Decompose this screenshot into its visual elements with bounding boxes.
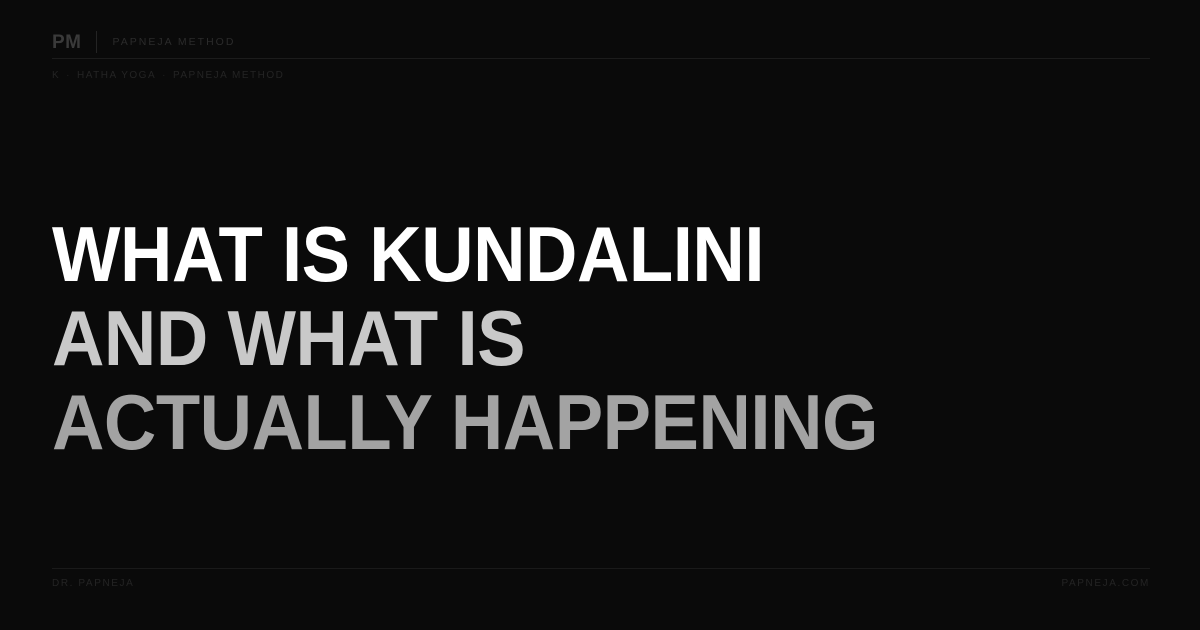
brand-name-label: PAPNEJA METHOD xyxy=(97,36,236,48)
headline-line-3: ACTUALLY HAPPENING xyxy=(52,380,1075,464)
title-slide: PM PAPNEJA METHOD K · HATHA YOGA · PAPNE… xyxy=(0,0,1200,630)
footer-author: DR. PAPNEJA xyxy=(52,578,134,589)
footer-website: PAPNEJA.COM xyxy=(1061,578,1150,589)
breadcrumb-separator: · xyxy=(156,70,173,81)
brand-logo-mark: PM xyxy=(52,33,96,52)
headline-line-2: AND WHAT IS xyxy=(52,296,1075,380)
header-divider-rule xyxy=(52,58,1150,59)
slide-footer: DR. PAPNEJA PAPNEJA.COM xyxy=(52,578,1150,589)
footer-divider-rule xyxy=(52,568,1150,569)
page-title: WHAT IS KUNDALINI AND WHAT IS ACTUALLY H… xyxy=(52,212,1152,464)
breadcrumb-item-0: K xyxy=(52,70,60,81)
breadcrumb-item-1: HATHA YOGA xyxy=(77,70,156,81)
headline-line-1: WHAT IS KUNDALINI xyxy=(52,212,1075,296)
breadcrumb: K · HATHA YOGA · PAPNEJA METHOD xyxy=(52,70,284,81)
breadcrumb-separator: · xyxy=(60,70,77,81)
breadcrumb-item-2: PAPNEJA METHOD xyxy=(173,70,284,81)
slide-header: PM PAPNEJA METHOD xyxy=(52,24,1150,60)
